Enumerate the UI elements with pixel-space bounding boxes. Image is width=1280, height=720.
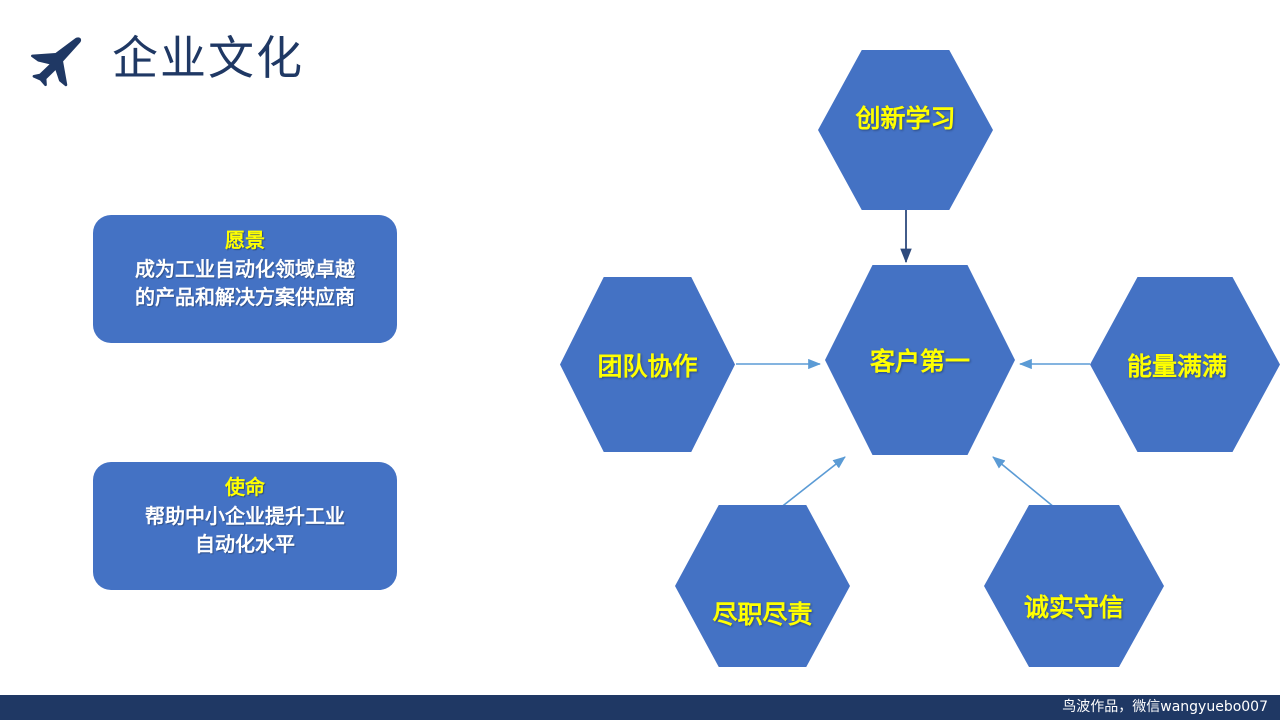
hex-node-teamwork-label: 团队协作 [597,347,697,383]
arrow-bottom-left-to-center [775,457,845,512]
slide-canvas: 企业文化 愿景 成为工业自动化领域卓越 的产品和解决方案供应商 使命 帮助中小企… [0,0,1280,720]
culture-hexagon-diagram: 创新学习 团队协作 客户第一 能量满满 尽职尽责 诚实守信 [0,0,1280,700]
footer-credit: 鸟波作品，微信wangyuebo007 [1062,695,1268,720]
hex-node-innovation-label: 创新学习 [855,99,955,135]
hex-node-energy-label: 能量满满 [1127,347,1227,383]
hex-node-integrity-label: 诚实守信 [1024,588,1124,624]
arrow-bottom-right-to-center [993,457,1060,512]
footer-bar: 鸟波作品，微信wangyuebo007 [0,695,1280,720]
hex-node-responsibility-label: 尽职尽责 [712,595,812,631]
hex-node-customer-first-label: 客户第一 [870,342,970,378]
